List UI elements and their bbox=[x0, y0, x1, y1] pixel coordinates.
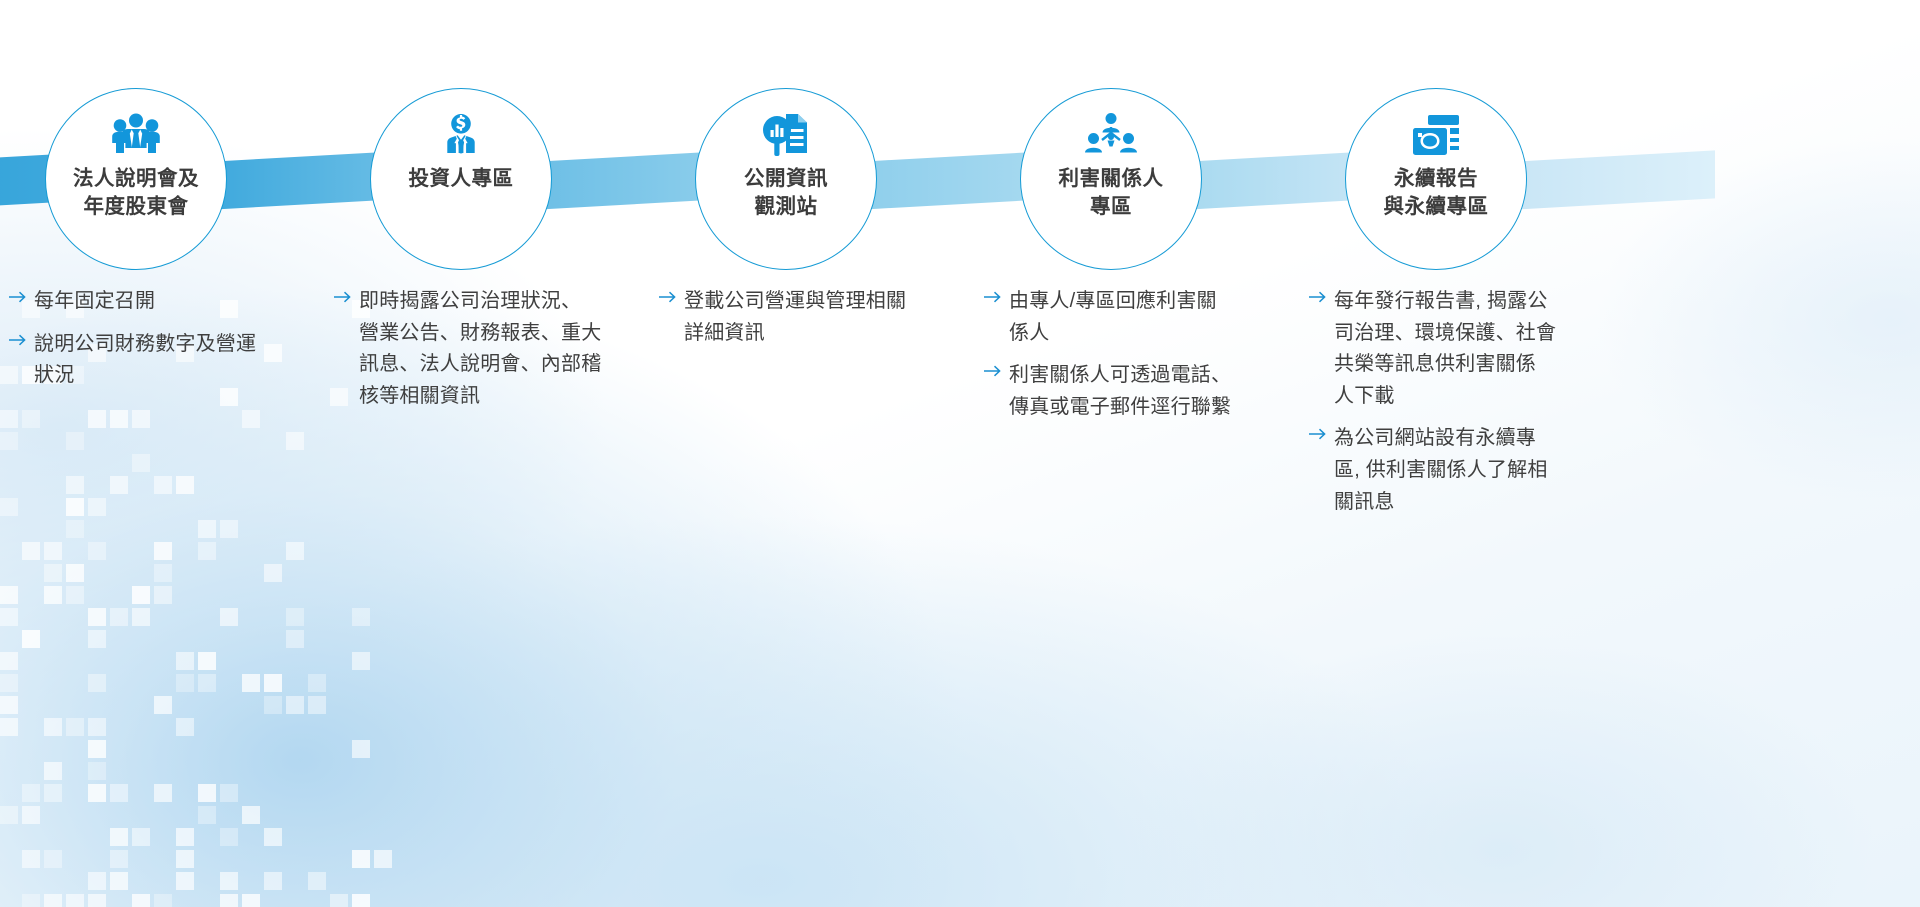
node-1-title: 法人說明會及 年度股東會 bbox=[73, 165, 199, 222]
list-item: 為公司網站設有永續專 區, 供利害關係人了解相 關訊息 bbox=[1308, 423, 1613, 518]
bullet-column-5: 每年發行報告書, 揭露公 司治理、環境保護、社會 共榮等訊息供利害關係 人下載 … bbox=[1308, 286, 1613, 529]
node-4-circle[interactable]: 利害關係人 專區 bbox=[1020, 88, 1202, 270]
list-item: 由專人/專區回應利害關 係人 bbox=[983, 286, 1273, 349]
investor-money-person-icon bbox=[439, 111, 483, 159]
list-item: 每年固定召開 bbox=[8, 286, 298, 318]
node-3[interactable]: 公開資訊 觀測站 bbox=[695, 88, 877, 270]
bullet-columns: 每年固定召開 說明公司財務數字及營運 狀況 即時揭露公司治理狀況、 營業公告、財… bbox=[0, 286, 1920, 846]
list-item-text: 即時揭露公司治理狀況、 營業公告、財務報表、重大 訊息、法人說明會、內部稽 核等… bbox=[359, 286, 601, 412]
list-item-text: 由專人/專區回應利害關 係人 bbox=[1009, 286, 1217, 349]
list-item: 說明公司財務數字及營運 狀況 bbox=[8, 329, 298, 392]
list-item-text: 為公司網站設有永續專 區, 供利害關係人了解相 關訊息 bbox=[1334, 423, 1548, 518]
document-chart-search-icon bbox=[761, 111, 811, 159]
arrow-right-icon bbox=[983, 365, 1003, 377]
group-presentation-icon bbox=[109, 111, 163, 159]
list-item: 每年發行報告書, 揭露公 司治理、環境保護、社會 共榮等訊息供利害關係 人下載 bbox=[1308, 286, 1613, 412]
node-1[interactable]: 法人說明會及 年度股東會 bbox=[45, 88, 227, 270]
list-item-text: 登載公司營運與管理相關 詳細資訊 bbox=[684, 286, 906, 349]
node-5-title: 永續報告 與永續專區 bbox=[1384, 165, 1489, 222]
node-circle-row: 法人說明會及 年度股東會 投資人專區 bbox=[0, 0, 1920, 280]
list-item: 即時揭露公司治理狀況、 營業公告、財務報表、重大 訊息、法人說明會、內部稽 核等… bbox=[333, 286, 623, 412]
arrow-right-icon bbox=[333, 291, 353, 303]
node-2-circle[interactable]: 投資人專區 bbox=[370, 88, 552, 270]
node-4-title: 利害關係人 專區 bbox=[1059, 165, 1164, 222]
node-5-circle[interactable]: 永續報告 與永續專區 bbox=[1345, 88, 1527, 270]
list-item-text: 每年發行報告書, 揭露公 司治理、環境保護、社會 共榮等訊息供利害關係 人下載 bbox=[1334, 286, 1556, 412]
list-item-text: 每年固定召開 bbox=[34, 286, 155, 318]
node-3-circle[interactable]: 公開資訊 觀測站 bbox=[695, 88, 877, 270]
arrow-right-icon bbox=[1308, 428, 1328, 440]
node-3-title: 公開資訊 觀測站 bbox=[744, 165, 828, 222]
node-5[interactable]: 永續報告 與永續專區 bbox=[1345, 88, 1527, 270]
stakeholder-network-icon bbox=[1085, 111, 1137, 159]
infographic-stage: 法人說明會及 年度股東會 投資人專區 bbox=[0, 0, 1920, 907]
arrow-right-icon bbox=[983, 291, 1003, 303]
list-item-text: 說明公司財務數字及營運 狀況 bbox=[34, 329, 256, 392]
arrow-right-icon bbox=[8, 334, 28, 346]
sustainability-report-icon bbox=[1412, 111, 1460, 159]
bullet-column-3: 登載公司營運與管理相關 詳細資訊 bbox=[658, 286, 948, 360]
arrow-right-icon bbox=[1308, 291, 1328, 303]
bullet-column-2: 即時揭露公司治理狀況、 營業公告、財務報表、重大 訊息、法人說明會、內部稽 核等… bbox=[333, 286, 623, 423]
list-item-text: 利害關係人可透過電話、 傳真或電子郵件逕行聯繫 bbox=[1009, 360, 1231, 423]
bullet-column-4: 由專人/專區回應利害關 係人 利害關係人可透過電話、 傳真或電子郵件逕行聯繫 bbox=[983, 286, 1273, 434]
node-2[interactable]: 投資人專區 bbox=[370, 88, 552, 270]
node-2-title: 投資人專區 bbox=[409, 165, 514, 193]
list-item: 利害關係人可透過電話、 傳真或電子郵件逕行聯繫 bbox=[983, 360, 1273, 423]
list-item: 登載公司營運與管理相關 詳細資訊 bbox=[658, 286, 948, 349]
arrow-right-icon bbox=[658, 291, 678, 303]
node-4[interactable]: 利害關係人 專區 bbox=[1020, 88, 1202, 270]
node-1-circle[interactable]: 法人說明會及 年度股東會 bbox=[45, 88, 227, 270]
bullet-column-1: 每年固定召開 說明公司財務數字及營運 狀況 bbox=[8, 286, 298, 403]
arrow-right-icon bbox=[8, 291, 28, 303]
